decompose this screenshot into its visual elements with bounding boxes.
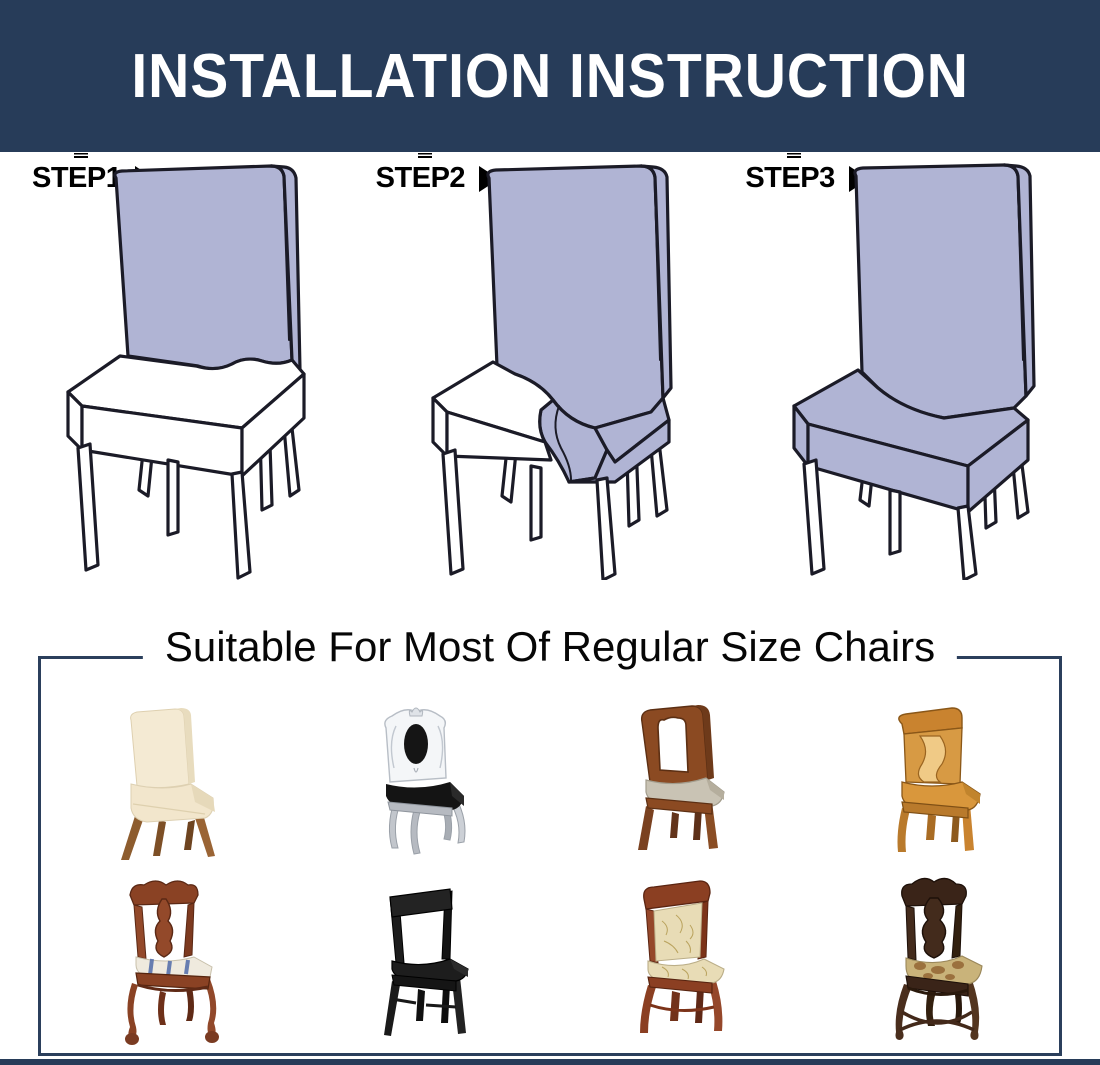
step-1-cell: STEP1 <box>0 152 367 622</box>
chair-cell-antique-carved-tapestry-chair <box>806 870 1062 1050</box>
floral-upholstered-wood-chair-image <box>606 875 751 1045</box>
suitable-chairs-title: Suitable For Most Of Regular Size Chairs <box>143 623 957 671</box>
antique-carved-tapestry-chair-image <box>862 870 1007 1050</box>
installation-steps-row: STEP1 <box>0 152 1100 622</box>
chair-cell-floral-upholstered-wood-chair <box>550 870 806 1050</box>
black-slat-back-chair-image <box>352 875 492 1045</box>
bottom-accent-strip <box>0 1059 1100 1065</box>
step-3-illustration <box>778 160 1068 580</box>
step-3-cell: STEP3 <box>733 152 1100 622</box>
step-1-illustration <box>56 160 346 580</box>
chair-cell-black-slat-back-chair <box>294 870 550 1050</box>
chippendale-mahogany-chair-image <box>94 873 239 1048</box>
chairs-grid <box>38 690 1062 1050</box>
step-2-cell: STEP2 <box>367 152 734 622</box>
chair-cell-silver-baroque-chair <box>294 690 550 870</box>
chair-cell-chippendale-mahogany-chair <box>38 870 294 1050</box>
chair-cell-walnut-keyhole-back-chair <box>550 690 806 870</box>
silver-baroque-chair-image <box>352 698 492 863</box>
step-2-illustration <box>419 160 709 580</box>
page-title: INSTALLATION INSTRUCTION <box>131 41 968 112</box>
chair-cell-cream-upholstered-chair <box>38 690 294 870</box>
header-banner: INSTALLATION INSTRUCTION <box>0 0 1100 152</box>
golden-oak-fiddleback-chair-image <box>862 698 1007 863</box>
walnut-keyhole-back-chair-image <box>606 698 751 863</box>
suitable-chairs-section: Suitable For Most Of Regular Size Chairs <box>38 656 1062 1056</box>
cream-upholstered-chair-image <box>91 698 241 863</box>
chair-cell-golden-oak-fiddleback-chair <box>806 690 1062 870</box>
